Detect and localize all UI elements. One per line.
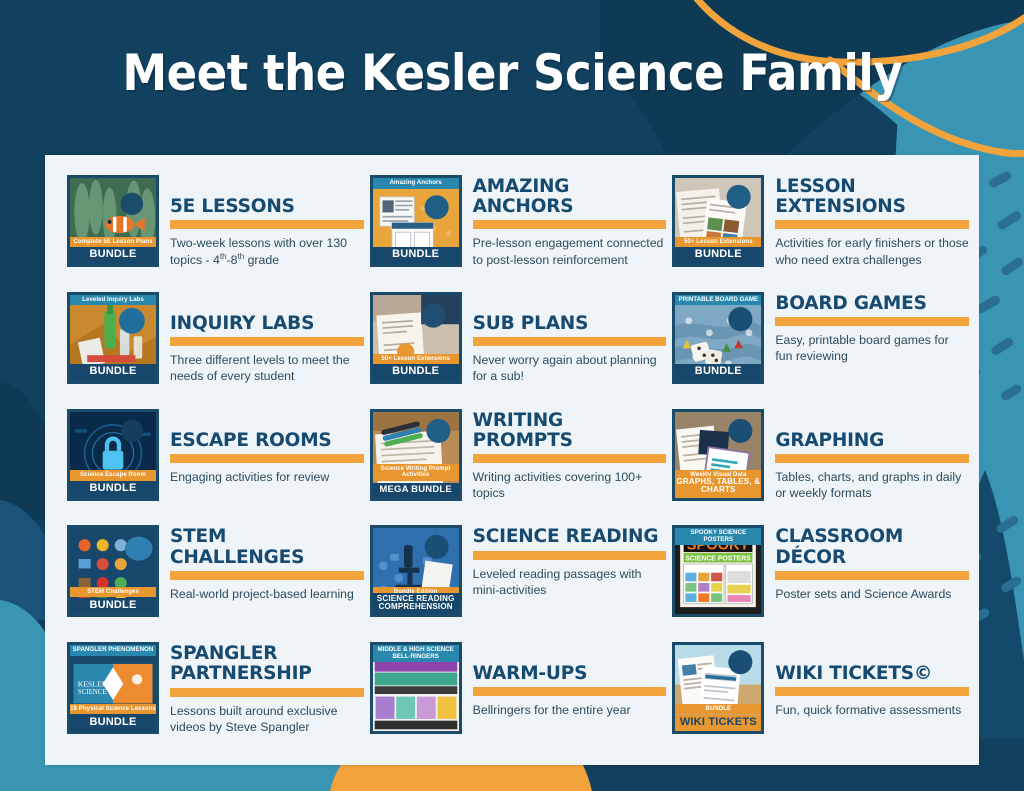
thumbnail-sub-label: 50+ Lesson Extensions (373, 354, 459, 364)
thumbnail-sub-label: Science Escape Room (70, 470, 156, 480)
product-thumbnail: PRINTABLE BOARD GAME BUNDLE (672, 292, 764, 384)
product-thumbnail: Science Writing Prompt Activities MEGA B… (370, 409, 462, 501)
product-card[interactable]: 50+ Lesson Extensions BUNDLE LESSON EXTE… (672, 169, 969, 286)
product-card[interactable]: SPOOKY SCIENCE POSTERS SPOOKY SCIENCE PO… (672, 519, 969, 636)
thumbnail-badge: BUNDLE (70, 364, 156, 381)
svg-text:KESLER: KESLER (78, 679, 108, 688)
product-body: CLASSROOM DÉCOR Poster sets and Science … (775, 525, 969, 602)
product-card[interactable]: Leveled Inquiry Labs BUNDLE INQUIRY LABS… (67, 286, 364, 403)
thumbnail-top-label: SPOOKY SCIENCE POSTERS (675, 528, 761, 545)
page-title: Meet the Kesler Science Family (122, 44, 902, 102)
products-grid: Complete 5E Lesson Plans BUNDLE 5E LESSO… (45, 155, 979, 765)
thumbnail-badge: BUNDLE (70, 715, 156, 732)
thumbnail-badge: BUNDLE (675, 247, 761, 264)
product-card[interactable]: Bundle Edition SCIENCE READING COMPREHEN… (370, 519, 667, 636)
product-body: WARM-UPS Bellringers for the entire year (473, 642, 667, 719)
product-title: SCIENCE READING (473, 527, 667, 547)
products-panel: Complete 5E Lesson Plans BUNDLE 5E LESSO… (45, 155, 979, 765)
thumbnail-sub-label: Science Writing Prompt Activities (373, 464, 459, 481)
thumbnail-badge: SCIENCE READING COMPREHENSION (373, 593, 459, 615)
title-underline-rule (170, 688, 364, 697)
title-underline-rule (170, 571, 364, 580)
thumbnail-top-label: Leveled Inquiry Labs (70, 295, 156, 306)
product-card[interactable]: Science Writing Prompt Activities MEGA B… (370, 403, 667, 520)
product-thumbnail: SPOOKY SCIENCE POSTERS SPOOKY SCIENCE PO… (672, 525, 764, 617)
product-thumbnail: 50+ Lesson Extensions BUNDLE (370, 292, 462, 384)
product-description: Fun, quick formative assessments (775, 702, 969, 718)
product-thumbnail: BUNDLE WIKI TICKETS (672, 642, 764, 734)
title-underline-rule (170, 454, 364, 463)
product-description: Leveled reading passages with mini-activ… (473, 566, 667, 599)
product-card[interactable]: 50+ Lesson Extensions BUNDLE SUB PLANS N… (370, 286, 667, 403)
product-body: WRITING PROMPTS Writing activities cover… (473, 409, 667, 502)
product-description: Easy, printable board games for fun revi… (775, 332, 969, 365)
product-body: GRAPHING Tables, charts, and graphs in d… (775, 409, 969, 502)
product-title: ESCAPE ROOMS (170, 431, 364, 451)
product-thumbnail: Amazing Anchors BUNDLE (370, 175, 462, 267)
poster-canvas: Meet the Kesler Science Family Complete … (0, 0, 1024, 791)
product-title: INQUIRY LABS (170, 314, 364, 334)
product-description: Engaging activities for review (170, 469, 364, 485)
product-card[interactable]: MIDDLE & HIGH SCIENCE BELL-RINGERS WARM-… (370, 636, 667, 753)
thumbnail-sub-label: 50+ Lesson Extensions (675, 237, 761, 247)
product-body: ESCAPE ROOMS Engaging activities for rev… (170, 409, 364, 486)
product-body: WIKI TICKETS© Fun, quick formative asses… (775, 642, 969, 719)
product-description: Lessons built around exclusive videos by… (170, 703, 364, 736)
thumbnail-sub-label: 19 Physical Science Lessons (70, 704, 156, 714)
product-title: WARM-UPS (473, 664, 667, 684)
product-card[interactable]: STEM Challenges BUNDLE STEM CHALLENGES R… (67, 519, 364, 636)
product-description: Writing activities covering 100+ topics (473, 469, 667, 502)
title-underline-rule (170, 220, 364, 229)
product-body: BOARD GAMES Easy, printable board games … (775, 292, 969, 365)
thumbnail-top-label: Amazing Anchors (373, 178, 459, 189)
product-description: Two-week lessons with over 130 topics - … (170, 235, 364, 268)
product-body: 5E LESSONS Two-week lessons with over 13… (170, 175, 364, 268)
product-card[interactable]: Science Escape Room BUNDLE ESCAPE ROOMS … (67, 403, 364, 520)
thumbnail-badge: BUNDLE (373, 364, 459, 381)
title-underline-rule (473, 220, 667, 229)
product-title: WRITING PROMPTS (473, 411, 667, 451)
product-thumbnail: Leveled Inquiry Labs BUNDLE (67, 292, 159, 384)
thumbnail-sub-label: BUNDLE (675, 704, 761, 714)
title-underline-rule (473, 551, 667, 560)
product-title: WIKI TICKETS© (775, 664, 969, 684)
product-body: STEM CHALLENGES Real-world project-based… (170, 525, 364, 602)
product-body: SUB PLANS Never worry again about planni… (473, 292, 667, 385)
thumbnail-sub-label: STEM Challenges (70, 587, 156, 597)
product-card[interactable]: PRINTABLE BOARD GAME BUNDLE BOARD GAMES … (672, 286, 969, 403)
thumbnail-badge: BUNDLE (70, 598, 156, 615)
product-description: Real-world project-based learning (170, 586, 364, 602)
thumbnail-top-label: SPANGLER PHENOMENON (70, 645, 156, 656)
product-thumbnail: STEM Challenges BUNDLE (67, 525, 159, 617)
product-thumbnail: Complete 5E Lesson Plans BUNDLE (67, 175, 159, 267)
product-body: LESSON EXTENSIONS Activities for early f… (775, 175, 969, 268)
title-underline-rule (775, 687, 969, 696)
product-title: BOARD GAMES (775, 294, 969, 314)
thumbnail-top-label: PRINTABLE BOARD GAME (675, 295, 761, 306)
product-description: Tables, charts, and graphs in daily or w… (775, 469, 969, 502)
thumbnail-badge: WIKI TICKETS (675, 715, 761, 732)
product-title: SPANGLER PARTNERSHIP (170, 644, 364, 684)
product-description: Pre-lesson engagement connected to post-… (473, 235, 667, 268)
product-thumbnail: MIDDLE & HIGH SCIENCE BELL-RINGERS (370, 642, 462, 734)
title-underline-rule (775, 571, 969, 580)
thumbnail-badge: GRAPHS, TABLES, & CHARTS (675, 476, 761, 498)
product-title: AMAZING ANCHORS (473, 177, 667, 217)
product-card[interactable]: Complete 5E Lesson Plans BUNDLE 5E LESSO… (67, 169, 364, 286)
title-underline-rule (170, 337, 364, 346)
title-underline-rule (473, 454, 667, 463)
title-underline-rule (473, 337, 667, 346)
thumbnail-badge: BUNDLE (70, 247, 156, 264)
product-description: Three different levels to meet the needs… (170, 352, 364, 385)
product-description: Bellringers for the entire year (473, 702, 667, 718)
product-card[interactable]: KESLER SCIENCE SPANGLER PHENOMENON 19 Ph… (67, 636, 364, 753)
product-thumbnail: Bundle Edition SCIENCE READING COMPREHEN… (370, 525, 462, 617)
product-card[interactable]: Amazing Anchors BUNDLE AMAZING ANCHORS P… (370, 169, 667, 286)
thumbnail-badge: BUNDLE (70, 481, 156, 498)
title-underline-rule (775, 220, 969, 229)
title-underline-rule (473, 687, 667, 696)
product-thumbnail: Science Escape Room BUNDLE (67, 409, 159, 501)
product-description: Never worry again about planning for a s… (473, 352, 667, 385)
svg-text:SCIENCE: SCIENCE (78, 689, 107, 696)
thumbnail-sub-label: Complete 5E Lesson Plans (70, 237, 156, 247)
thumbnail-badge: MEGA BUNDLE (373, 483, 459, 498)
product-title: 5E LESSONS (170, 197, 364, 217)
product-body: SPANGLER PARTNERSHIP Lessons built aroun… (170, 642, 364, 735)
thumbnail-badge: BUNDLE (373, 247, 459, 264)
product-title: LESSON EXTENSIONS (775, 177, 969, 217)
product-body: AMAZING ANCHORS Pre-lesson engagement co… (473, 175, 667, 268)
product-description: Poster sets and Science Awards (775, 586, 969, 602)
product-title: CLASSROOM DÉCOR (775, 527, 969, 567)
product-title: SUB PLANS (473, 314, 667, 334)
thumbnail-top-label: MIDDLE & HIGH SCIENCE BELL-RINGERS (373, 645, 459, 662)
product-thumbnail: Weekly Visual Data GRAPHS, TABLES, & CHA… (672, 409, 764, 501)
svg-text:SCIENCE POSTERS: SCIENCE POSTERS (686, 556, 752, 563)
product-description: Activities for early finishers or those … (775, 235, 969, 268)
product-card[interactable]: Weekly Visual Data GRAPHS, TABLES, & CHA… (672, 403, 969, 520)
product-title: STEM CHALLENGES (170, 527, 364, 567)
product-thumbnail: 50+ Lesson Extensions BUNDLE (672, 175, 764, 267)
thumbnail-badge: BUNDLE (675, 364, 761, 381)
product-body: INQUIRY LABS Three different levels to m… (170, 292, 364, 385)
product-thumbnail: KESLER SCIENCE SPANGLER PHENOMENON 19 Ph… (67, 642, 159, 734)
title-underline-rule (775, 454, 969, 463)
product-body: SCIENCE READING Leveled reading passages… (473, 525, 667, 598)
title-underline-rule (775, 317, 969, 326)
page-title-wrap: Meet the Kesler Science Family (0, 44, 1024, 102)
product-title: GRAPHING (775, 431, 969, 451)
product-card[interactable]: BUNDLE WIKI TICKETS WIKI TICKETS© Fun, q… (672, 636, 969, 753)
